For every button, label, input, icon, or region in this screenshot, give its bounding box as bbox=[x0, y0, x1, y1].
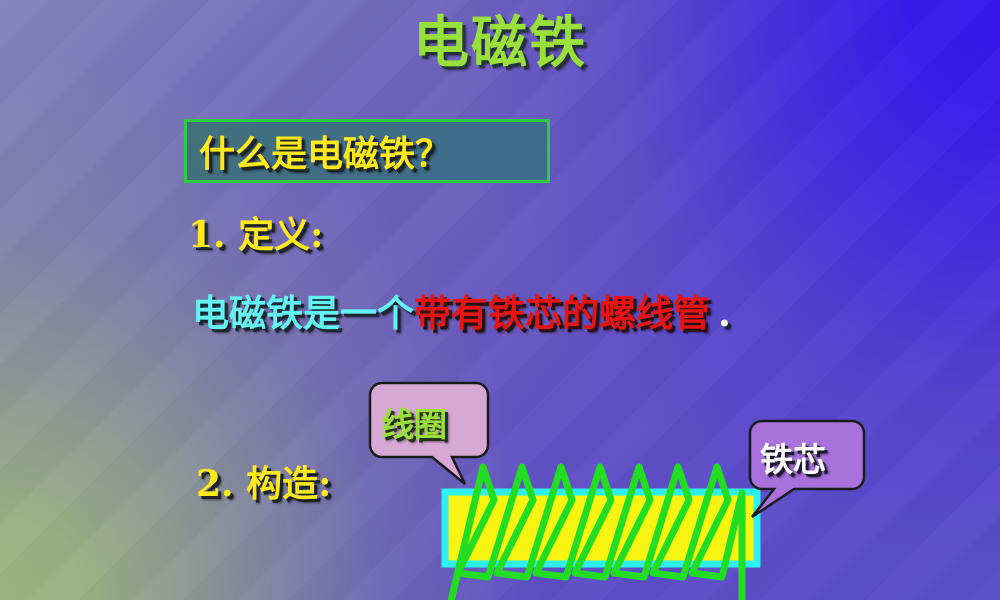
definition-period: . bbox=[710, 291, 731, 335]
callout-core: 铁芯 bbox=[748, 419, 866, 519]
presentation-slide: 电磁铁 什么是电磁铁？ 1. 定义: 电磁铁是一个带有铁芯的螺线管. 2. 构造… bbox=[0, 0, 1000, 600]
definition-text-normal: 电磁铁是一个 bbox=[192, 291, 414, 335]
heading-structure: 2. 构造: bbox=[196, 455, 331, 507]
callout-coil: 线圈 bbox=[368, 381, 508, 486]
callout-core-label: 铁芯 bbox=[760, 433, 826, 481]
question-box-label: 什么是电磁铁？ bbox=[199, 125, 451, 177]
heading-definition: 1. 定义: bbox=[188, 206, 323, 258]
definition-sentence: 电磁铁是一个带有铁芯的螺线管. bbox=[192, 295, 731, 332]
callout-coil-label: 线圈 bbox=[381, 398, 447, 446]
slide-title: 电磁铁 bbox=[0, 14, 1000, 73]
definition-text-highlight: 带有铁芯的螺线管 bbox=[414, 291, 710, 335]
question-box: 什么是电磁铁？ bbox=[184, 119, 550, 183]
